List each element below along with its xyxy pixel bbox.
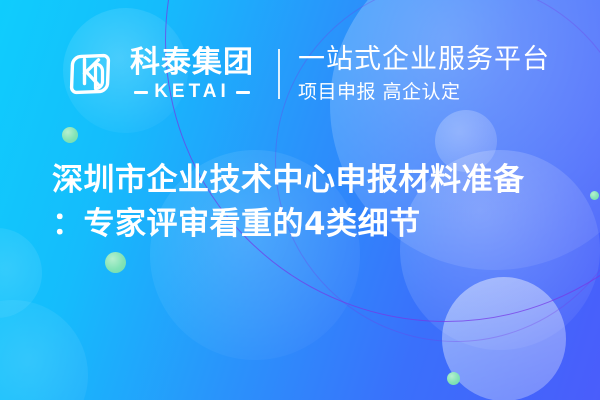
page-title-line-2: ：专家评审看重的4类细节	[52, 202, 564, 246]
wordmark-rule-right	[236, 91, 250, 94]
banner-header: 科泰集团 KETAI 一站式企业服务平台 项目申报 高企认定	[58, 38, 550, 110]
decorative-circle-bottom-left	[0, 300, 88, 400]
brand-tagline: 一站式企业服务平台 项目申报 高企认定	[298, 44, 550, 104]
promo-banner: 科泰集团 KETAI 一站式企业服务平台 项目申报 高企认定 深圳市企业技术中心…	[0, 0, 600, 400]
header-divider	[278, 49, 280, 99]
decorative-dot-green-right-edge	[590, 191, 599, 200]
brand-name-en: KETAI	[154, 81, 230, 103]
brand-name-en-row: KETAI	[130, 81, 254, 103]
decorative-dot-green-upper-left	[62, 127, 78, 143]
page-title: 深圳市企业技术中心申报材料准备 ：专家评审看重的4类细节	[52, 158, 564, 246]
brand-wordmark: 科泰集团 KETAI	[130, 45, 254, 104]
brand-name-cn: 科泰集团	[130, 47, 254, 79]
tagline-primary: 一站式企业服务平台	[298, 44, 550, 76]
wordmark-rule-left	[134, 91, 148, 94]
decorative-circle-left-edge	[0, 228, 42, 318]
decorative-dot-green-left	[105, 252, 126, 273]
decorative-dot-green-bottom	[447, 372, 460, 385]
tagline-secondary: 项目申报 高企认定	[298, 81, 550, 104]
decorative-circle-bottom-right	[442, 277, 566, 400]
page-title-line-1: 深圳市企业技术中心申报材料准备	[52, 158, 564, 202]
kd-monogram-diamond-icon	[58, 42, 122, 106]
brand-logo: 科泰集团 KETAI	[58, 42, 254, 106]
